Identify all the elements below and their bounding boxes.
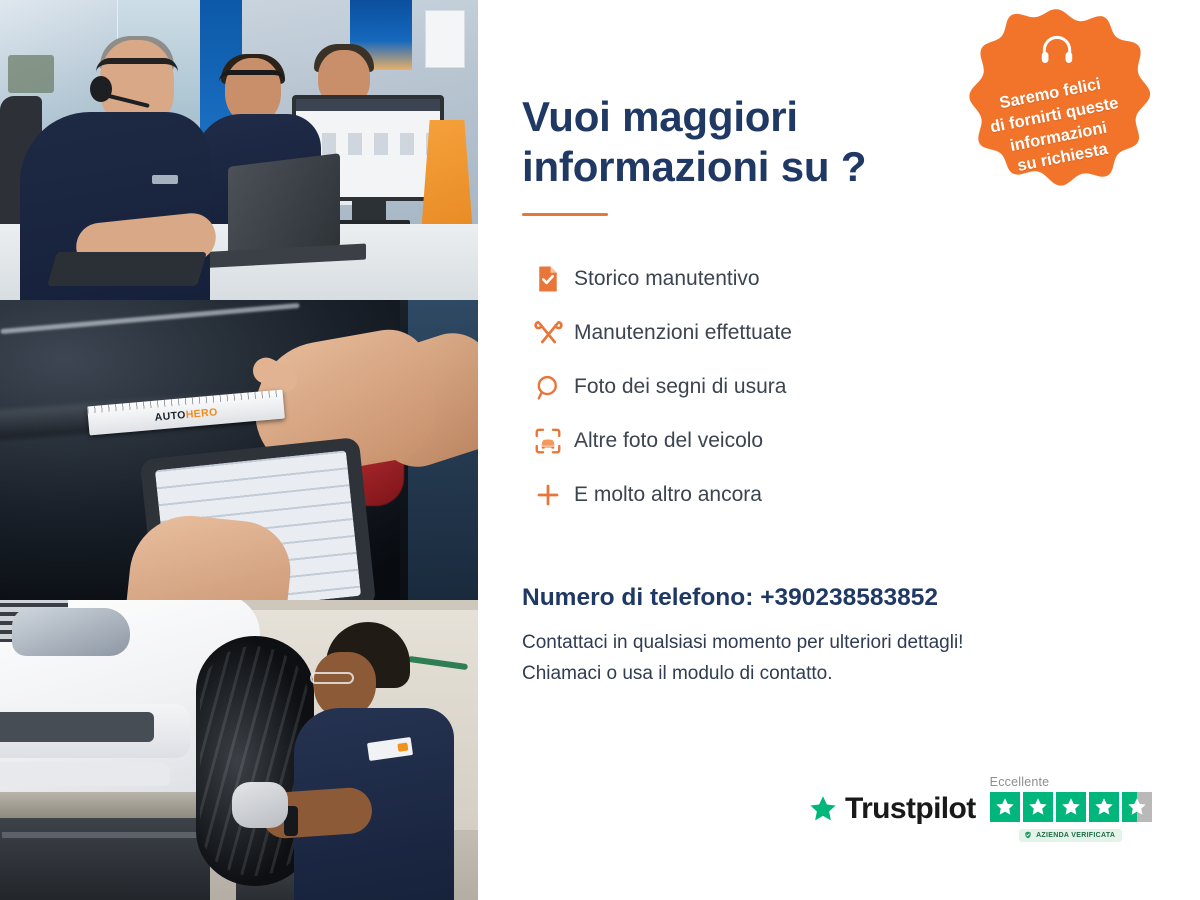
star-rating (990, 792, 1152, 822)
car-photo-frame-icon (522, 426, 574, 456)
laptop-decor (228, 153, 340, 261)
tools-cross-icon (522, 318, 574, 349)
list-item: Storico manutentivo (522, 252, 1140, 306)
star-filled-icon (1023, 792, 1053, 822)
list-item-label: Foto dei segni di usura (574, 375, 786, 399)
trustpilot-brand: Trustpilot (845, 792, 976, 826)
list-item-label: Altre foto del veicolo (574, 429, 763, 453)
verified-label: AZIENDA VERIFICATA (1036, 832, 1115, 839)
contact-text: Contattaci in qualsiasi momento per ulte… (522, 628, 1140, 690)
list-item: E molto altro ancora (522, 468, 1140, 522)
rating-label: Eccellente (990, 775, 1050, 789)
cabinet-decor (0, 818, 210, 900)
call-center-agents-photo (0, 0, 478, 300)
document-check-icon (522, 264, 574, 294)
tablet-decor (47, 252, 207, 286)
page-title: Vuoi maggiori informazioni su ? (522, 92, 942, 191)
list-item-label: Storico manutentivo (574, 267, 760, 291)
paper-decor (425, 10, 465, 68)
phone-number-line[interactable]: Numero di telefono: +390238583852 (522, 584, 1140, 612)
shield-check-icon (1024, 831, 1032, 839)
star-filled-icon (1056, 792, 1086, 822)
headset-icon (1038, 31, 1076, 69)
list-item-label: E molto altro ancora (574, 483, 762, 507)
mechanic-decor (304, 622, 454, 900)
trustpilot-logo: Trustpilot (808, 792, 976, 826)
callout-badge: Saremo felici di fornirti queste informa… (949, 5, 1164, 220)
content-panel: Vuoi maggiori informazioni su ? Saremo f… (478, 0, 1200, 900)
title-divider (522, 213, 608, 216)
star-half-icon (1122, 792, 1152, 822)
photo-gallery: AUTOHERO (0, 0, 478, 900)
list-item: Manutenzioni effettuate (522, 306, 1140, 360)
star-filled-icon (1089, 792, 1119, 822)
trustpilot-rating: Eccellente (990, 775, 1152, 842)
mechanic-wheel-photo (0, 600, 478, 900)
ruler-brand-part1: AUTO (154, 409, 186, 424)
promo-page: AUTOHERO (0, 0, 1200, 900)
magnifier-icon (522, 373, 574, 402)
list-item: Altre foto del veicolo (522, 414, 1140, 468)
star-filled-icon (990, 792, 1020, 822)
trustpilot-star-icon (808, 794, 838, 824)
ruler-brand-part2: HERO (185, 406, 218, 421)
list-item-label: Manutenzioni effettuate (574, 321, 792, 345)
trustpilot-widget[interactable]: Trustpilot Eccellente (808, 775, 1152, 842)
feature-list: Storico manutentivo Manutenzioni effettu… (522, 252, 1140, 522)
list-item: Foto dei segni di usura (522, 360, 1140, 414)
vehicle-inspection-photo: AUTOHERO (0, 300, 478, 600)
plus-icon (522, 480, 574, 510)
status-badge: AZIENDA VERIFICATA (1019, 829, 1122, 842)
